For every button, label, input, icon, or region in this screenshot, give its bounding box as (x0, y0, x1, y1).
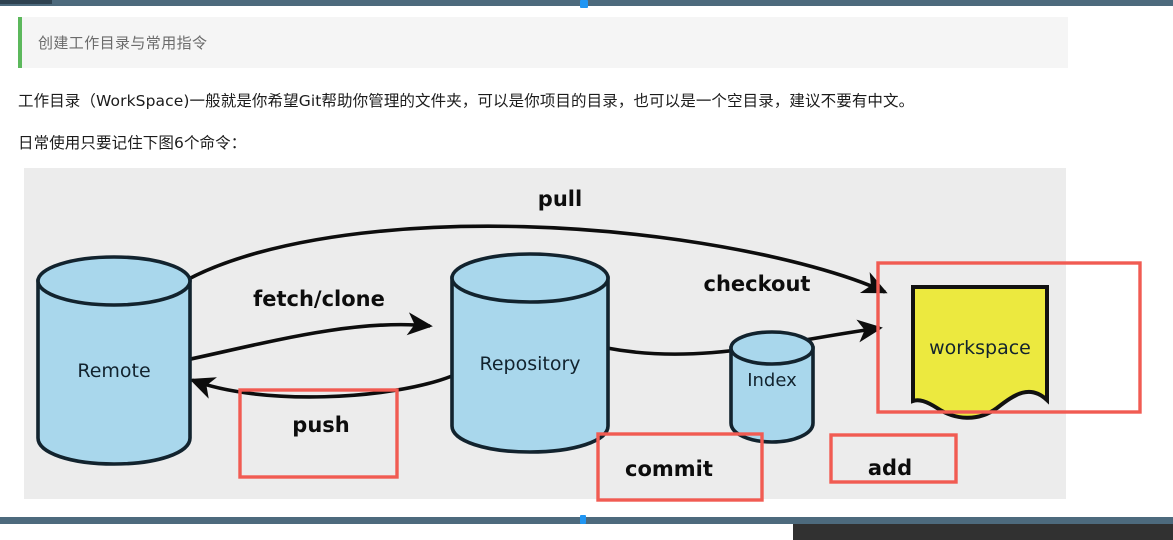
browser-bottom-bar (0, 517, 1173, 524)
node-index[interactable]: Index (731, 332, 813, 442)
page-title: 创建工作目录与常用指令 (22, 32, 207, 53)
edge-label-add: add (868, 456, 912, 480)
node-workspace-label: workspace (929, 337, 1031, 359)
git-workflow-diagram: Remote Repository Index workspace pull f… (0, 168, 1173, 508)
edge-push (192, 376, 452, 397)
node-repository-label: Repository (479, 353, 580, 375)
browser-tab-indicator (0, 0, 52, 4)
edge-label-push: push (292, 413, 349, 437)
edge-label-checkout: checkout (704, 272, 811, 296)
node-remote-label: Remote (77, 360, 150, 382)
node-repository[interactable]: Repository (452, 254, 608, 452)
node-remote[interactable]: Remote (38, 257, 190, 464)
browser-bottom-shadow (793, 524, 1173, 540)
edge-fetch-clone (172, 325, 430, 363)
edge-label-pull: pull (538, 187, 582, 211)
edge-label-commit: commit (625, 457, 713, 481)
scroll-marker-bottom-icon[interactable] (580, 515, 586, 524)
node-index-label: Index (747, 370, 797, 391)
page-root: 创建工作目录与常用指令 工作目录（WorkSpace)一般就是你希望Git帮助你… (0, 0, 1173, 540)
article-header: 创建工作目录与常用指令 (18, 17, 1068, 68)
node-workspace[interactable]: workspace (913, 287, 1047, 418)
scroll-marker-top-icon[interactable] (580, 0, 588, 8)
edge-label-fetch-clone: fetch/clone (253, 287, 385, 311)
paragraph-workspace-definition: 工作目录（WorkSpace)一般就是你希望Git帮助你管理的文件夹，可以是你项… (18, 89, 914, 111)
paragraph-six-commands: 日常使用只要记住下图6个命令： (18, 131, 246, 153)
